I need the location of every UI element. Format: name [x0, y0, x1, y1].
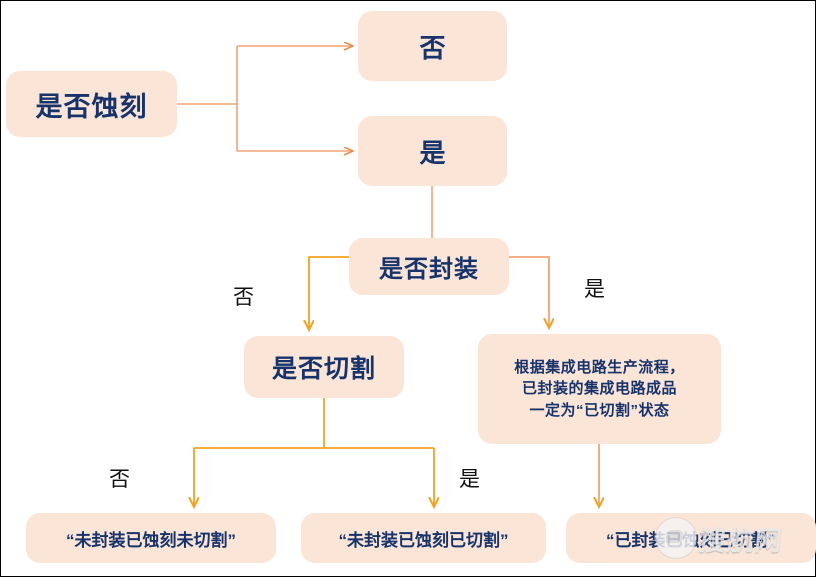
connector-cut-branches: [194, 398, 434, 506]
node-note-packaged-rule[interactable]: 根据集成电路生产流程， 已封装的集成电路成品 一定为“已切割”状态: [478, 334, 721, 444]
connector-package-yes: [509, 257, 549, 327]
node-result-unpackaged-etched-uncut[interactable]: “未封装已蚀刻未切割”: [26, 513, 276, 563]
node-is-cut[interactable]: 是否切割: [244, 336, 404, 398]
node-result-unpackaged-etched-cut[interactable]: “未封装已蚀刻已切割”: [301, 513, 546, 563]
connector-package-branches: [309, 257, 349, 329]
connector-etch-split: [177, 46, 352, 151]
branch-label-cut-yes: 是: [459, 463, 480, 493]
node-is-packaged[interactable]: 是否封装: [349, 238, 509, 295]
note-line-2: 已封装的集成电路成品: [522, 378, 677, 399]
branch-label-package-no: 否: [233, 281, 254, 311]
note-line-1: 根据集成电路生产流程，: [514, 357, 685, 378]
node-is-etched[interactable]: 是否蚀刻: [6, 71, 177, 137]
branch-label-package-yes: 是: [584, 273, 605, 303]
node-result-packaged-etched-cut[interactable]: “已封装已蚀刻已切割”: [566, 513, 816, 563]
flowchart-canvas: 是否蚀刻 否 是 是否封装 是否切割 根据集成电路生产流程， 已封装的集成电路成…: [0, 0, 816, 577]
branch-label-cut-no: 否: [109, 463, 130, 493]
note-line-3: 一定为“已切割”状态: [529, 400, 669, 421]
node-etch-no[interactable]: 否: [358, 11, 507, 81]
node-etch-yes[interactable]: 是: [358, 116, 507, 186]
